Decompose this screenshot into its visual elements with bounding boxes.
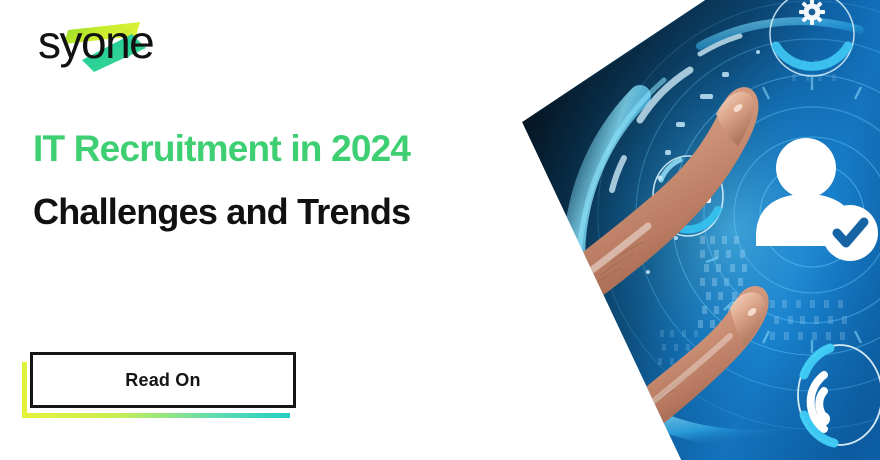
read-on-cta[interactable]: Read On (22, 352, 302, 418)
read-on-label: Read On (125, 370, 200, 391)
logo-wordmark: syone (38, 16, 153, 68)
cta-accent-vertical (22, 362, 27, 418)
wifi-signal-icon (798, 345, 880, 445)
read-on-button[interactable]: Read On (30, 352, 296, 408)
handshake-icon (653, 156, 723, 236)
pointing-hand (498, 87, 769, 456)
page-title-line1: IT Recruitment in 2024 (33, 130, 410, 167)
syone-logo[interactable]: syone (36, 14, 216, 76)
gear-icon (770, 0, 854, 76)
page-title-line2: Challenges and Trends (33, 194, 410, 230)
user-verified-icon (756, 138, 878, 261)
cta-accent-horizontal (22, 413, 290, 418)
promo-banner: syone IT Recruitment in 2024 Challenges … (0, 0, 880, 460)
hero-panel (498, 0, 880, 460)
